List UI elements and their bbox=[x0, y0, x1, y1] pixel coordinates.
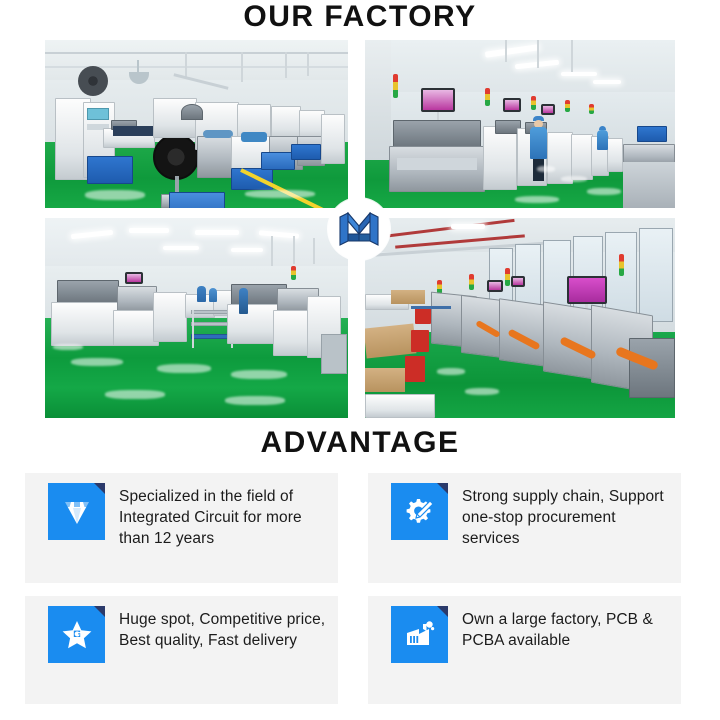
company-logo-badge bbox=[328, 198, 390, 260]
advantage-text-1: Specialized in the field of Integrated C… bbox=[119, 486, 330, 549]
advantage-card-2[interactable]: Strong supply chain, Support one-stop pr… bbox=[368, 473, 681, 583]
page-title-our-factory: OUR FACTORY bbox=[0, 2, 720, 32]
factory-photo-bottom-left bbox=[45, 218, 348, 418]
advantage-card-1[interactable]: Specialized in the field of Integrated C… bbox=[25, 473, 338, 583]
factory-photo-grid bbox=[45, 40, 675, 418]
advantage-card-4[interactable]: Own a large factory, PCB & PCBA availabl… bbox=[368, 596, 681, 704]
factory-photo-top-left bbox=[45, 40, 348, 208]
advantage-card-3[interactable]: Huge spot, Competitive price, Best quali… bbox=[25, 596, 338, 704]
factory-photo-top-right bbox=[365, 40, 675, 208]
advantage-text-3: Huge spot, Competitive price, Best quali… bbox=[119, 609, 330, 651]
star-icon bbox=[48, 606, 105, 663]
page-title-advantage: ADVANTAGE bbox=[0, 428, 720, 458]
factory-advantage-banner: OUR FACTORY bbox=[0, 0, 720, 720]
advantage-text-4: Own a large factory, PCB & PCBA availabl… bbox=[462, 609, 673, 651]
diamond-icon bbox=[48, 483, 105, 540]
factory-icon bbox=[391, 606, 448, 663]
gear-pencil-icon bbox=[391, 483, 448, 540]
advantage-text-2: Strong supply chain, Support one-stop pr… bbox=[462, 486, 673, 549]
factory-photo-bottom-right bbox=[365, 218, 675, 418]
